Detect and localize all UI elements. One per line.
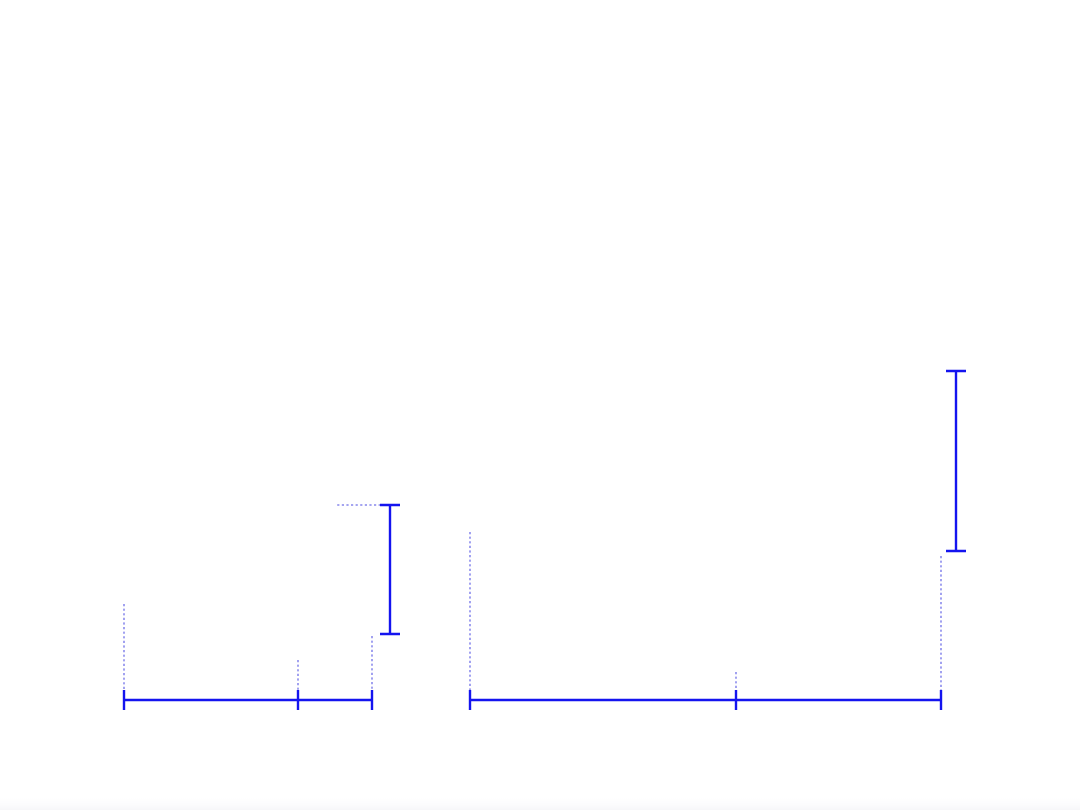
box-stack-dimensions [470, 371, 966, 710]
flat-stack-dimensions [124, 505, 400, 710]
slide-page [0, 0, 1080, 810]
isometric-artwork [0, 0, 1080, 810]
page-bottom-edge [0, 798, 1080, 810]
